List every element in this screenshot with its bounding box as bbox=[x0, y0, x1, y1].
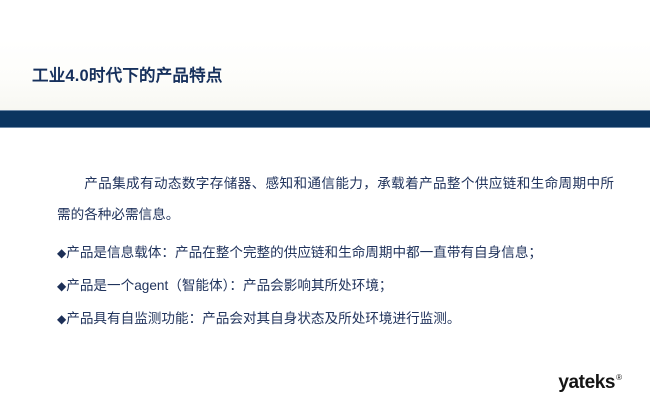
bullet-label-2: 产品是一个agent（智能体）：产品会影响其所处环境； bbox=[66, 276, 630, 296]
logo-wordmark: yateks bbox=[558, 373, 615, 392]
bullet-item-1: ◆ 产品是信息载体：产品在整个完整的供应链和生命周期中都一直带有自身信息； bbox=[0, 243, 650, 263]
bullet-list: ◆ 产品是信息载体：产品在整个完整的供应链和生命周期中都一直带有自身信息； ◆ … bbox=[0, 243, 650, 329]
registered-trademark-icon: ® bbox=[616, 374, 622, 382]
yateks-logo: yateks ® bbox=[558, 373, 622, 392]
slide-title: 工业4.0时代下的产品特点 bbox=[32, 65, 223, 87]
slide-canvas: 工业4.0时代下的产品特点 产品集成有动态数字存储器、感知和通信能力，承载着产品… bbox=[0, 0, 650, 404]
bullet-item-2: ◆ 产品是一个agent（智能体）：产品会影响其所处环境； bbox=[0, 276, 650, 296]
diamond-bullet-icon: ◆ bbox=[57, 276, 66, 296]
diamond-bullet-icon: ◆ bbox=[57, 309, 66, 329]
bullet-label-1: 产品是信息载体：产品在整个完整的供应链和生命周期中都一直带有自身信息； bbox=[66, 243, 630, 263]
diamond-bullet-icon: ◆ bbox=[57, 243, 66, 263]
bullet-item-3: ◆ 产品具有自监测功能：产品会对其自身状态及所处环境进行监测。 bbox=[0, 309, 650, 329]
slide-content: 产品集成有动态数字存储器、感知和通信能力，承载着产品整个供应链和生命周期中所需的… bbox=[0, 168, 650, 329]
title-divider-bar bbox=[0, 110, 650, 128]
body-paragraph: 产品集成有动态数字存储器、感知和通信能力，承载着产品整个供应链和生命周期中所需的… bbox=[0, 168, 650, 230]
bullet-label-3: 产品具有自监测功能：产品会对其自身状态及所处环境进行监测。 bbox=[66, 309, 630, 329]
